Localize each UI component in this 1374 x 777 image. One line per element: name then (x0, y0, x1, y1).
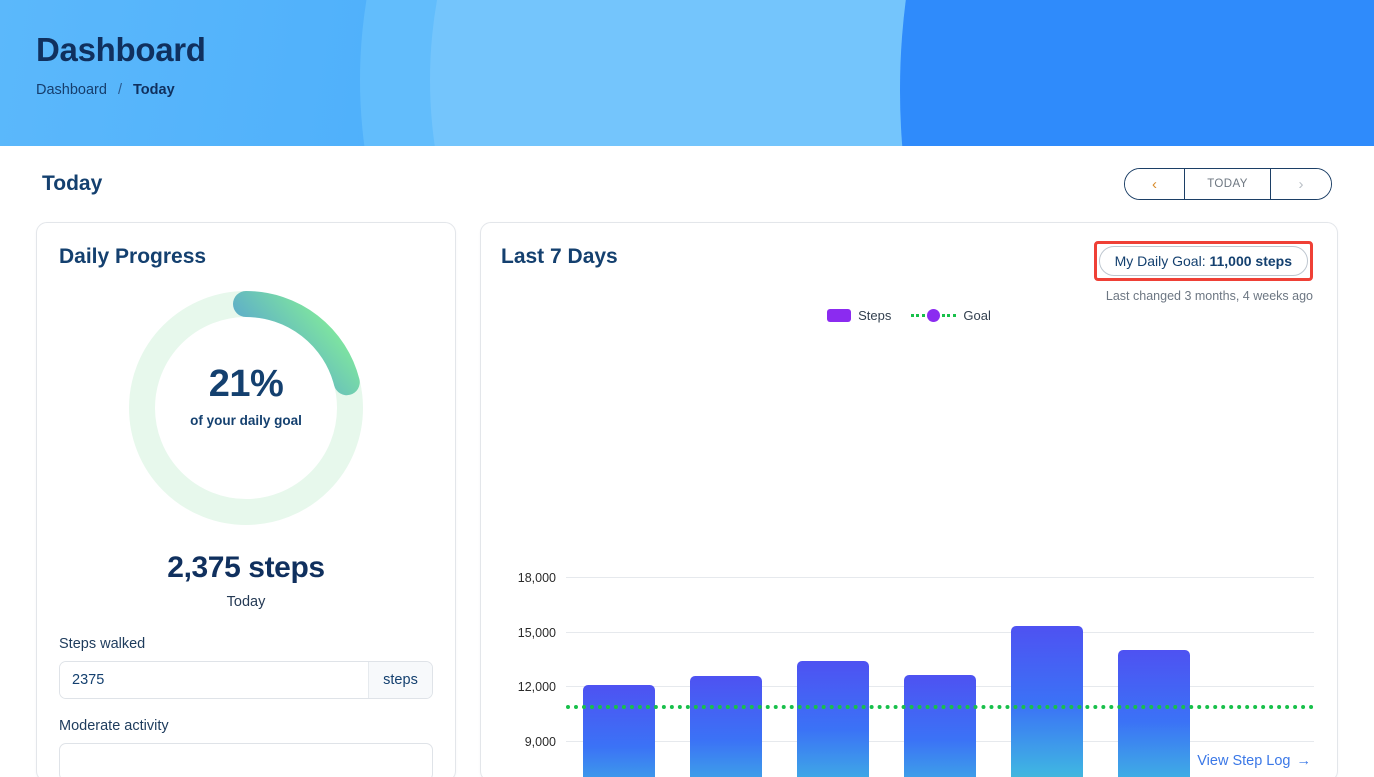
y-axis-tick-label: 9,000 (525, 735, 556, 749)
chart-bar-slot: Jan 28 (673, 577, 780, 777)
last-7-days-card: Last 7 Days My Daily Goal: 11,000 steps … (480, 222, 1338, 777)
chart-plot-area: 03,0006,0009,00012,00015,00018,000 Jan 2… (566, 577, 1314, 777)
page-toolbar: Today ‹ TODAY › (0, 146, 1374, 222)
arrow-right-icon: → (1297, 753, 1312, 769)
legend-item-steps: Steps (827, 308, 891, 323)
chart-goal-line (566, 705, 1314, 709)
chart-bar-slot: Jan 27 (566, 577, 673, 777)
steps-walked-label: Steps walked (59, 636, 433, 652)
chart-bar[interactable] (1011, 626, 1083, 777)
chart-bar-slot: Jan 30 (887, 577, 994, 777)
legend-goal-marker-icon (911, 309, 956, 322)
view-step-log-label: View Step Log (1197, 753, 1290, 769)
page-header-banner: Dashboard Dashboard / Today (0, 0, 1374, 146)
y-axis-tick-label: 15,000 (518, 626, 556, 640)
my-daily-goal-label: My Daily Goal: (1115, 253, 1210, 269)
progress-percent-caption: of your daily goal (37, 413, 455, 428)
chart-bar-slot: Feb 1 (1100, 577, 1207, 777)
daily-goal-area: My Daily Goal: 11,000 steps Last changed… (1094, 241, 1313, 303)
chart-bar-slot: Jan 31 (993, 577, 1100, 777)
legend-swatch-icon (827, 309, 851, 322)
steps-total-day: Today (59, 594, 433, 610)
goal-last-changed-note: Last changed 3 months, 4 weeks ago (1094, 289, 1313, 303)
y-axis-tick-label: 12,000 (518, 680, 556, 694)
donut-center-labels: 21% of your daily goal (37, 363, 455, 428)
daily-progress-title: Daily Progress (59, 245, 433, 269)
next-day-button[interactable]: › (1271, 169, 1331, 199)
steps-bar-chart: 03,0006,0009,00012,00015,00018,000 Jan 2… (501, 553, 1318, 777)
previous-day-button[interactable]: ‹ (1125, 169, 1185, 199)
chart-bar[interactable] (904, 675, 976, 777)
chart-bar[interactable] (583, 685, 655, 777)
legend-item-goal: Goal (911, 308, 990, 323)
goal-highlight-box: My Daily Goal: 11,000 steps (1094, 241, 1313, 281)
steps-total: 2,375 steps (59, 551, 433, 585)
daily-progress-card: Daily Progress 21% of your daily goal 2,… (36, 222, 456, 777)
section-title: Today (42, 172, 102, 196)
view-step-log-link[interactable]: View Step Log→ (1197, 753, 1311, 769)
legend-label-steps: Steps (858, 308, 891, 323)
steps-walked-input-row: steps (59, 661, 433, 699)
chart-bar-slot: Feb 2 (1207, 577, 1314, 777)
chevron-right-icon: › (1299, 176, 1304, 193)
date-nav-button-group: ‹ TODAY › (1124, 168, 1332, 200)
breadcrumb-item-today: Today (133, 82, 175, 98)
moderate-activity-label: Moderate activity (59, 718, 433, 734)
steps-walked-input[interactable] (60, 662, 368, 698)
chart-legend: Steps Goal (481, 308, 1337, 323)
my-daily-goal-button[interactable]: My Daily Goal: 11,000 steps (1099, 246, 1308, 276)
breadcrumb: Dashboard / Today (36, 82, 1374, 98)
breadcrumb-separator: / (118, 82, 122, 98)
chart-bar-slot: Jan 29 (780, 577, 887, 777)
y-axis-tick-label: 18,000 (518, 571, 556, 585)
chevron-left-icon: ‹ (1152, 176, 1157, 193)
my-daily-goal-value: 11,000 steps (1209, 253, 1292, 269)
page-title: Dashboard (36, 30, 1374, 70)
chart-bar[interactable] (690, 676, 762, 777)
chart-bars: Jan 27Jan 28Jan 29Jan 30Jan 31Feb 1Feb 2 (566, 577, 1314, 777)
today-button[interactable]: TODAY (1185, 169, 1271, 199)
moderate-activity-input[interactable] (59, 743, 433, 777)
progress-percent: 21% (37, 363, 455, 406)
chart-bar[interactable] (797, 661, 869, 777)
breadcrumb-item-dashboard[interactable]: Dashboard (36, 82, 107, 98)
chart-bar[interactable] (1118, 650, 1190, 777)
legend-label-goal: Goal (963, 308, 990, 323)
dashboard-cards: Daily Progress 21% of your daily goal 2,… (0, 222, 1374, 777)
steps-unit-suffix: steps (368, 662, 432, 698)
